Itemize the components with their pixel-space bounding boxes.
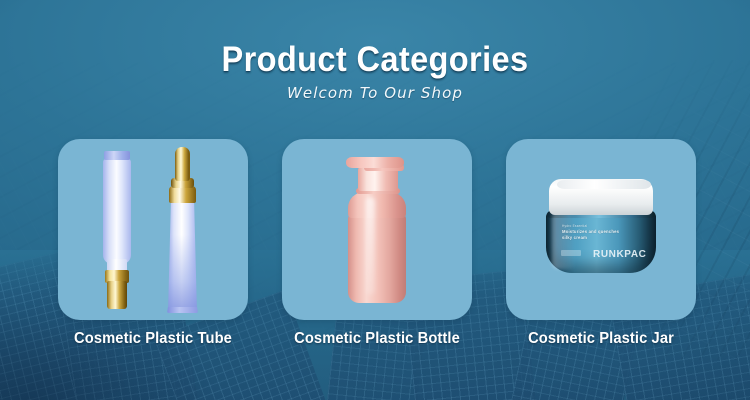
tube-body [168, 201, 197, 313]
category-label-jar[interactable]: Cosmetic Plastic Jar [514, 330, 689, 348]
category-card-jar[interactable]: Hydro Essential Moisturizes and quenches… [506, 139, 696, 320]
jar-label-text: Hydro Essential Moisturizes and quenches… [562, 224, 632, 241]
cosmetic-plastic-tube-image [58, 139, 248, 320]
jar-label-line2: silky cream [562, 235, 587, 240]
page-subtitle: Welcom To Our Shop [0, 84, 750, 102]
jar-lid [549, 179, 653, 215]
pink-bottle [344, 157, 410, 305]
banner-header: Product Categories Welcom To Our Shop [0, 0, 750, 102]
tube-gold-cap [175, 147, 190, 181]
jar-label-badge [561, 250, 581, 256]
bottle-shoulder [348, 192, 406, 218]
category-item-bottle[interactable]: Cosmetic Plastic Bottle [282, 139, 472, 320]
jar-label-line1: Moisturizes and quenches [562, 229, 619, 234]
category-card-bottle[interactable] [282, 139, 472, 320]
category-card-list: Cosmetic Plastic Tube Cosmetic Pl [58, 139, 696, 320]
tube-upright [162, 147, 202, 313]
tube-gold-cap [107, 281, 127, 309]
category-item-tube[interactable]: Cosmetic Plastic Tube [58, 139, 248, 320]
tube-seal [167, 307, 198, 313]
tube-seal [104, 151, 130, 160]
page-title: Product Categories [26, 0, 724, 80]
category-card-tube[interactable] [58, 139, 248, 320]
category-label-tube[interactable]: Cosmetic Plastic Tube [66, 330, 241, 348]
tube-gold-shoulder [169, 186, 196, 203]
cosmetic-plastic-jar-image: Hydro Essential Moisturizes and quenches… [506, 139, 696, 320]
cosmetic-plastic-bottle-image [282, 139, 472, 320]
jar-highlight [552, 213, 576, 269]
jar-label-eyebrow: Hydro Essential [562, 224, 632, 229]
tube-body [103, 159, 131, 264]
bottle-disc-cap [346, 157, 404, 168]
bottle-body [348, 213, 406, 303]
category-label-bottle[interactable]: Cosmetic Plastic Bottle [290, 330, 465, 348]
bottle-highlight [366, 197, 375, 295]
product-categories-banner: Product Categories Welcom To Our Shop [0, 0, 750, 400]
cream-jar: Hydro Essential Moisturizes and quenches… [546, 179, 656, 279]
jar-brand-text: RUNKPAC [593, 249, 646, 260]
tube-inverted [102, 151, 132, 309]
category-item-jar[interactable]: Hydro Essential Moisturizes and quenches… [506, 139, 696, 320]
jar-lid-top [557, 180, 651, 189]
